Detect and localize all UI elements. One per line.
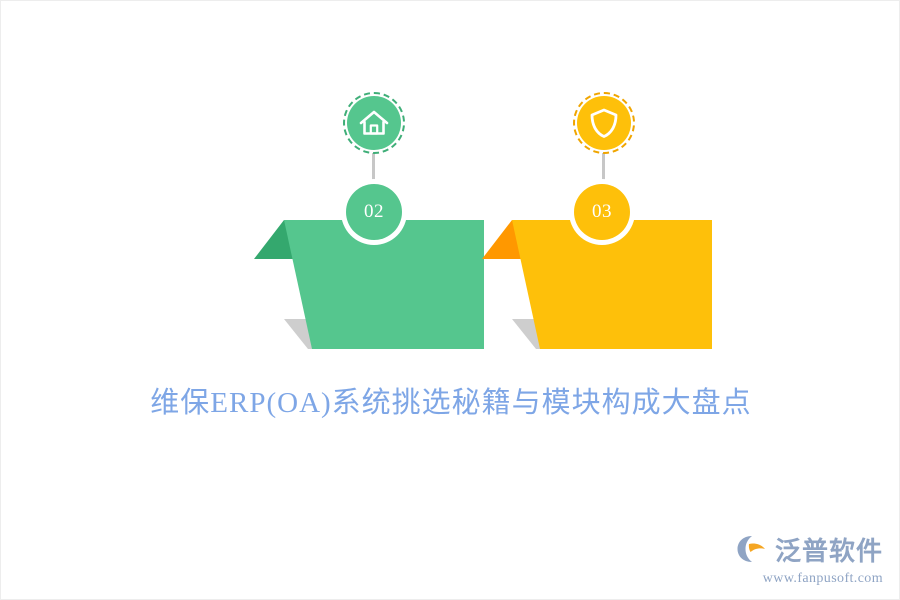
connector-line-03 [602,153,605,187]
green-ribbon-body [284,220,484,349]
home-icon [347,96,401,150]
brand-name: 泛普软件 [775,539,883,565]
step-number: 02 [364,201,384,223]
page-title: 维保ERP(OA)系统挑选秘籍与模块构成大盘点 [1,379,900,421]
ribbon-shapes [1,1,900,371]
shield-icon [577,96,631,150]
amber-ribbon-body [512,220,712,349]
step-badge-03[interactable]: 03 [574,184,630,240]
medallion-home[interactable] [343,92,405,154]
brand-logo: 泛普软件 www.fanpusoft.com [736,534,883,587]
step-number: 03 [592,201,612,223]
brand-row: 泛普软件 [736,534,883,569]
brand-url: www.fanpusoft.com [763,571,883,587]
medallion-shield[interactable] [573,92,635,154]
infographic-canvas: 02 03 维保ERP(OA)系统挑选秘籍与模块构成大盘点 泛普软件 www.f… [0,0,900,600]
fanpu-logo-icon [736,534,770,569]
connector-line-02 [372,153,375,187]
step-badge-02[interactable]: 02 [346,184,402,240]
ribbon-stage [1,1,900,371]
